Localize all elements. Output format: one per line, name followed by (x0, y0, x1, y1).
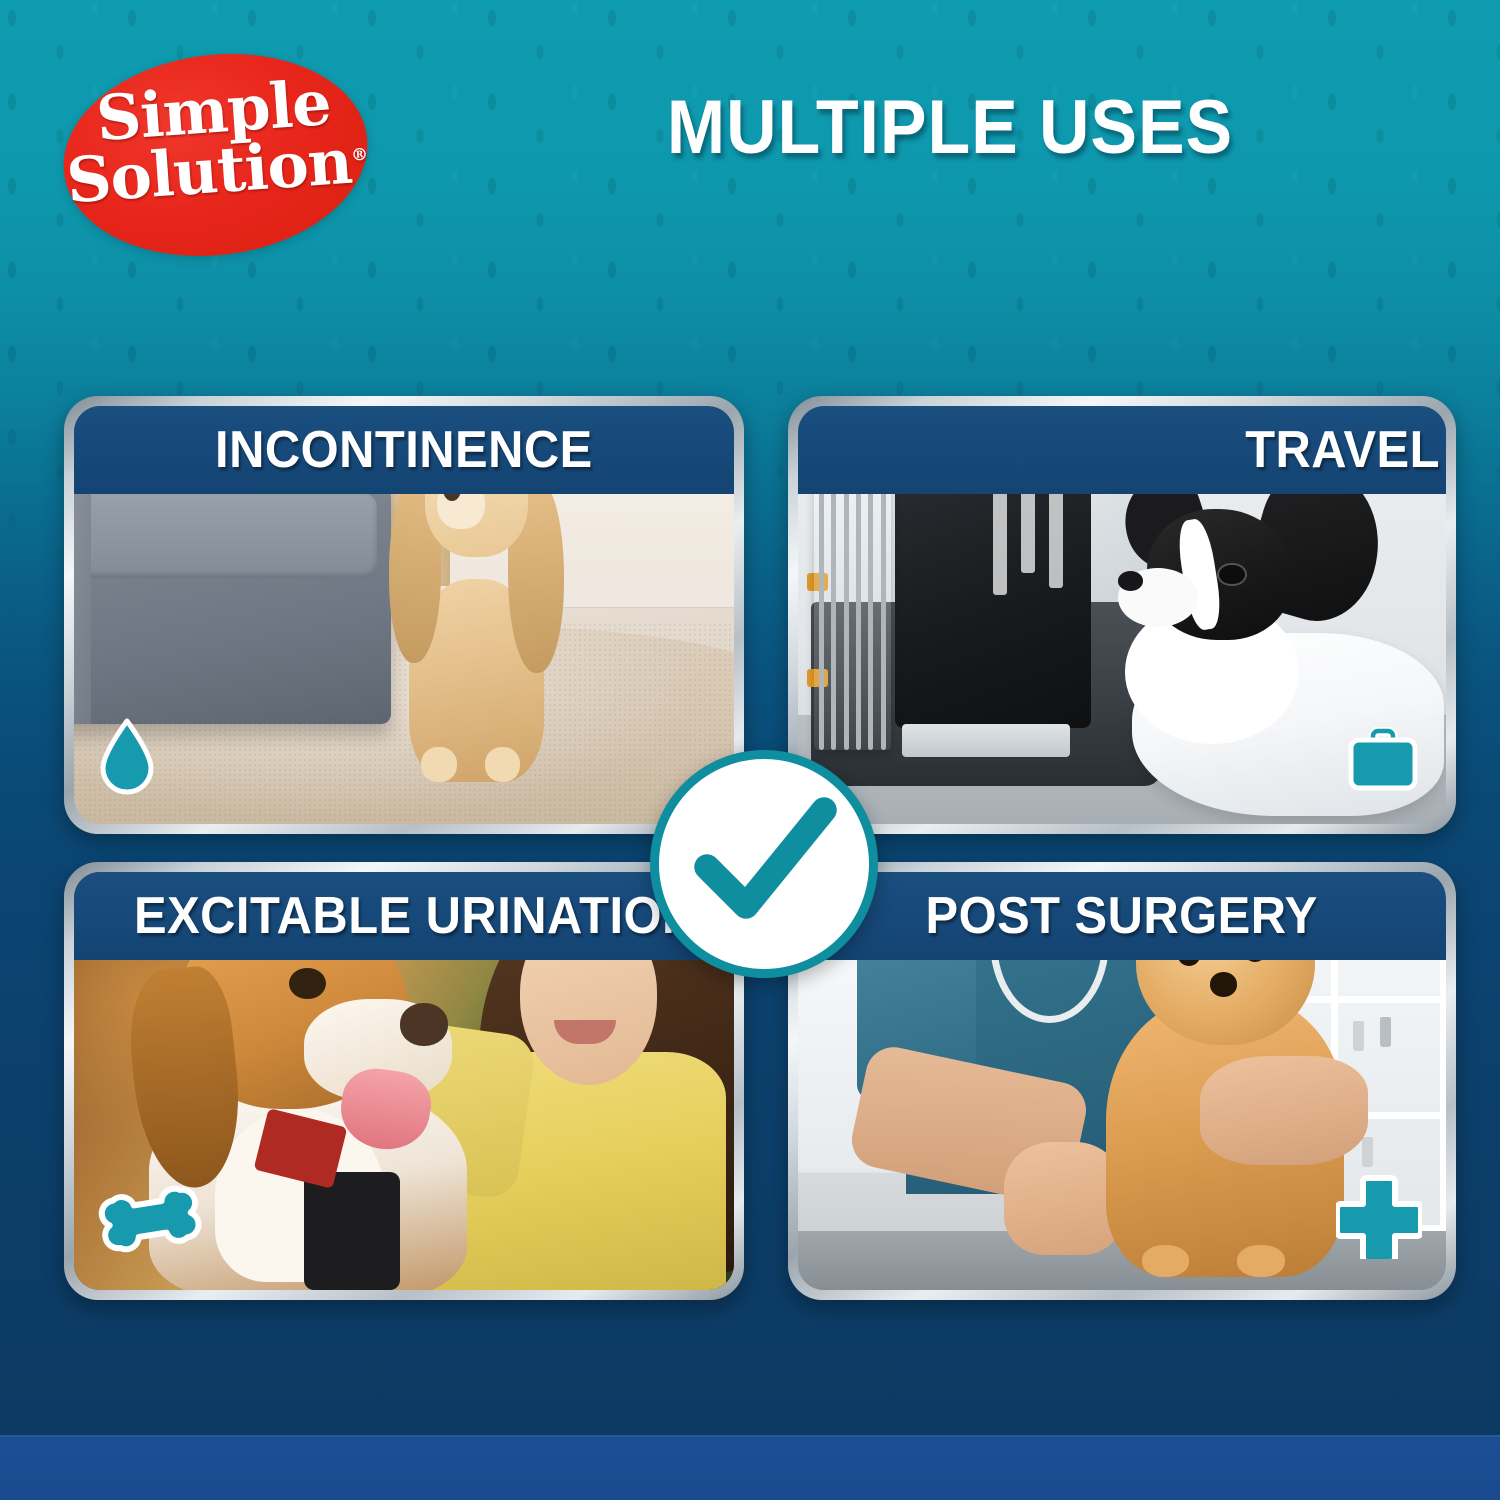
logo-wordmark: Simple Solution® (59, 71, 372, 211)
bottle (1380, 1017, 1391, 1047)
medical-cross-icon (1336, 1173, 1422, 1264)
dog-paw (485, 747, 521, 782)
center-check-badge (650, 750, 878, 978)
logo-line-2: Solution® (63, 130, 371, 211)
card-label: TRAVEL (1245, 420, 1440, 480)
card-header-band: TRAVEL (798, 406, 1446, 494)
wire-bar (844, 455, 849, 749)
dog-nose (1210, 972, 1237, 996)
water-droplet-icon (96, 717, 158, 802)
page-title: MULTIPLE USES (508, 84, 1391, 171)
bottom-color-bar (0, 1435, 1500, 1500)
suitcase-icon (1346, 727, 1420, 798)
card-inner: EXCITABLE URINATION (74, 872, 734, 1290)
dog-nose (400, 1003, 448, 1046)
card-label: EXCITABLE URINATION (134, 886, 698, 946)
vet-hand-supporting (1200, 1056, 1368, 1165)
infographic-canvas: Simple Solution® MULTIPLE USES (0, 0, 1500, 1500)
dog-paw (1142, 1245, 1190, 1277)
wire-bar (831, 455, 836, 749)
dog-paw (1237, 1245, 1285, 1277)
card-header-band: INCONTINENCE (74, 406, 734, 494)
sofa (74, 473, 391, 724)
use-case-card-post-surgery[interactable]: POST SURGERY (788, 862, 1456, 1300)
card-header-band: EXCITABLE URINATION (74, 872, 734, 960)
dog-bone-icon (94, 1185, 206, 1256)
card-label: POST SURGERY (926, 886, 1318, 946)
crate-wire-door (814, 455, 891, 749)
card-inner: TRAVEL (798, 406, 1446, 824)
wire-bar (819, 455, 824, 749)
check-icon (689, 789, 839, 939)
use-case-card-travel[interactable]: TRAVEL (788, 396, 1456, 834)
wire-bar (868, 455, 873, 749)
dog-harness (304, 1172, 400, 1290)
card-inner: POST SURGERY (798, 872, 1446, 1290)
use-case-card-incontinence[interactable]: INCONTINENCE (64, 396, 744, 834)
crate-tray (902, 724, 1070, 757)
dog-nose (1118, 571, 1143, 591)
dog-paw (421, 747, 457, 782)
card-inner: INCONTINENCE (74, 406, 734, 824)
brand-logo: Simple Solution® (63, 55, 368, 255)
registered-mark-icon: ® (350, 144, 368, 165)
use-case-card-excitable-urination[interactable]: EXCITABLE URINATION (64, 862, 744, 1300)
wire-bar (881, 455, 886, 749)
card-header-band: POST SURGERY (798, 872, 1446, 960)
wire-bar (856, 455, 861, 749)
card-label: INCONTINENCE (215, 420, 593, 480)
dog-eye (1219, 565, 1244, 585)
